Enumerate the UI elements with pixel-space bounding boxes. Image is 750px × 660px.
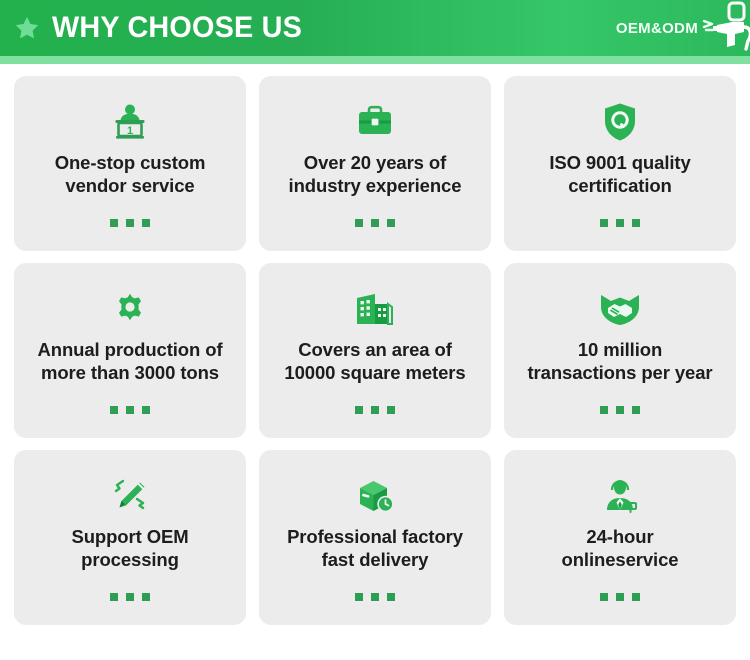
feature-card-title: Professional factory fast delivery: [287, 526, 463, 571]
dot: [616, 219, 624, 227]
feature-card-title: Covers an area of 10000 square meters: [284, 339, 465, 384]
dot: [126, 219, 134, 227]
feature-card-title-line2: onlineservice: [562, 549, 679, 570]
dot: [371, 219, 379, 227]
feature-card-title: Annual production of more than 3000 tons: [37, 339, 222, 384]
feature-card-title-line2: fast delivery: [322, 549, 429, 570]
card-dots-indicator: [355, 406, 395, 414]
feature-card-title: 24-hour onlineservice: [562, 526, 679, 571]
feature-card-title-line2: more than 3000 tons: [41, 362, 219, 383]
handshake-icon: [599, 289, 641, 329]
feature-card-title-line2: transactions per year: [527, 362, 712, 383]
briefcase-icon: [356, 102, 394, 142]
feature-card-10-million-transactions-per-year[interactable]: 10 million transactions per year: [504, 263, 736, 438]
feature-card-title-line1: 24-hour: [586, 526, 653, 547]
card-dots-indicator: [600, 593, 640, 601]
feature-card-title-line1: Professional factory: [287, 526, 463, 547]
card-dots-indicator: [110, 219, 150, 227]
card-dots-indicator: [600, 406, 640, 414]
feature-card-title-line2: industry experience: [289, 175, 462, 196]
dot: [387, 593, 395, 601]
oem-odm-label: OEM&ODM: [616, 20, 698, 37]
dot: [355, 219, 363, 227]
header-content: WHY CHOOSE US OEM&ODM: [0, 0, 750, 56]
feature-card-title-line1: ISO 9001 quality: [549, 152, 690, 173]
service-desk-icon: 1: [110, 102, 150, 142]
feature-card-title: Over 20 years of industry experience: [289, 152, 462, 197]
feature-card-covers-an-area-of-10000-square-meters[interactable]: Covers an area of 10000 square meters: [259, 263, 491, 438]
feature-card-title-line2: processing: [81, 549, 179, 570]
dot: [371, 593, 379, 601]
feature-card-over-20-years-of-industry-experience[interactable]: Over 20 years of industry experience: [259, 76, 491, 251]
dot: [371, 406, 379, 414]
feature-card-title-line2: vendor service: [65, 175, 194, 196]
dot: [600, 219, 608, 227]
feature-card-title-line2: 10000 square meters: [284, 362, 465, 383]
feature-card-title-line1: 10 million: [578, 339, 662, 360]
dot: [600, 406, 608, 414]
dot: [355, 593, 363, 601]
dot: [387, 406, 395, 414]
dot: [616, 593, 624, 601]
dot: [632, 593, 640, 601]
card-dots-indicator: [600, 219, 640, 227]
feature-card-one-stop-custom-vendor-service[interactable]: 1 One-stop custom vendor service: [14, 76, 246, 251]
dot: [110, 219, 118, 227]
feature-card-24-hour-onlineservice[interactable]: 24-hour onlineservice: [504, 450, 736, 625]
card-dots-indicator: [110, 406, 150, 414]
pencil-edit-icon: [110, 476, 150, 516]
feature-card-title: One-stop custom vendor service: [55, 152, 206, 197]
dot: [632, 406, 640, 414]
feature-card-title: Support OEM processing: [71, 526, 188, 571]
support-agent-icon: [600, 476, 640, 516]
card-dots-indicator: [355, 219, 395, 227]
card-dots-indicator: [110, 593, 150, 601]
feature-card-iso-9001-quality-certification[interactable]: ISO 9001 quality certification: [504, 76, 736, 251]
quality-shield-icon: [603, 102, 637, 142]
dot: [142, 219, 150, 227]
feature-card-title-line1: Over 20 years of: [304, 152, 446, 173]
feature-card-grid: 1 One-stop custom vendor service Over 20…: [0, 64, 750, 625]
feature-card-title-line1: Support OEM: [71, 526, 188, 547]
header-accent-strip: [0, 56, 750, 64]
feature-card-title-line1: One-stop custom: [55, 152, 206, 173]
star-icon: [14, 15, 40, 41]
dot: [126, 593, 134, 601]
dot: [142, 406, 150, 414]
page-header: WHY CHOOSE US OEM&ODM: [0, 0, 750, 64]
feature-card-support-oem-processing[interactable]: Support OEM processing: [14, 450, 246, 625]
dot: [632, 219, 640, 227]
dot: [110, 406, 118, 414]
dot: [355, 406, 363, 414]
dot: [387, 219, 395, 227]
page-title: WHY CHOOSE US: [52, 13, 302, 43]
gear-icon: [114, 289, 146, 329]
dot: [110, 593, 118, 601]
dot: [600, 593, 608, 601]
box-clock-icon: [354, 476, 396, 516]
feature-card-professional-factory-fast-delivery[interactable]: Professional factory fast delivery: [259, 450, 491, 625]
svg-text:1: 1: [127, 125, 133, 137]
buildings-icon: [354, 289, 396, 329]
dot: [126, 406, 134, 414]
dot: [142, 593, 150, 601]
card-dots-indicator: [355, 593, 395, 601]
oem-odm-badge: OEM&ODM: [616, 0, 750, 56]
feature-card-title: 10 million transactions per year: [527, 339, 712, 384]
feature-card-annual-production-more-than-3000-tons[interactable]: Annual production of more than 3000 tons: [14, 263, 246, 438]
spray-gun-icon: [702, 1, 750, 55]
feature-card-title: ISO 9001 quality certification: [549, 152, 690, 197]
feature-card-title-line2: certification: [568, 175, 672, 196]
dot: [616, 406, 624, 414]
feature-card-title-line1: Covers an area of: [298, 339, 452, 360]
feature-card-title-line1: Annual production of: [37, 339, 222, 360]
